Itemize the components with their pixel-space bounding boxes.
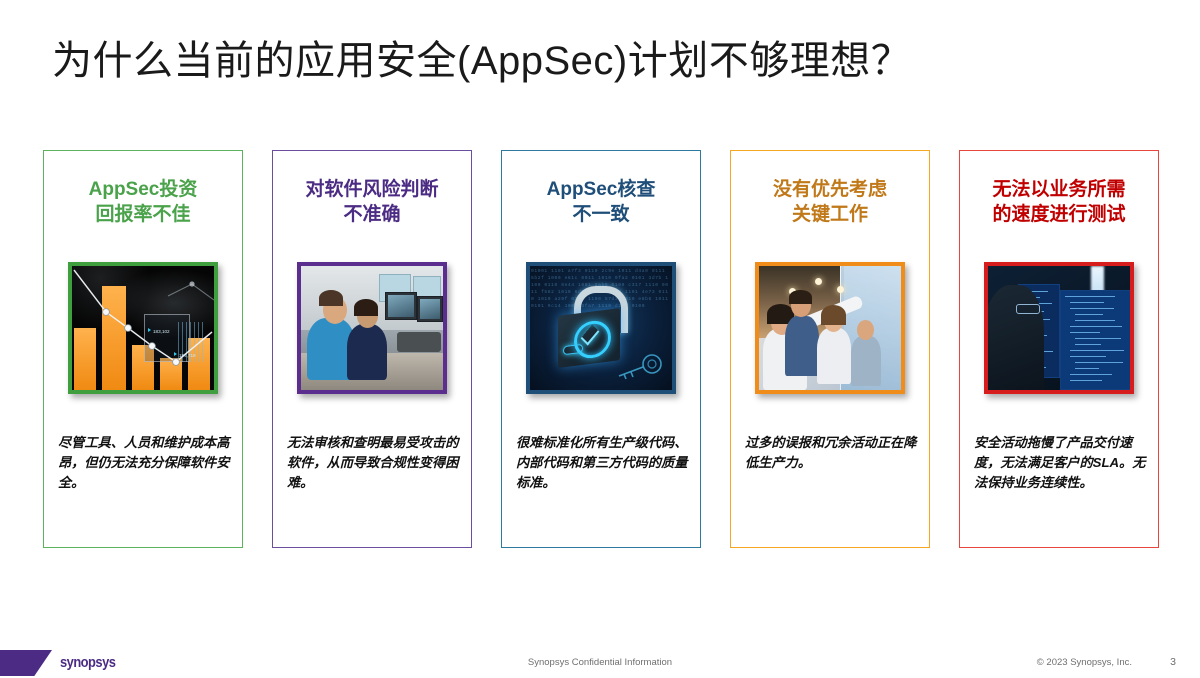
- card-body-text: 安全活动拖慢了产品交付速度，无法满足客户的SLA。无法保持业务连续性。: [974, 433, 1148, 493]
- reason-card-no-prioritization[interactable]: 没有优先考虑 关键工作 过多的误报: [730, 150, 930, 548]
- glasses-icon: [1016, 304, 1040, 314]
- reason-card-inconsistent-audit[interactable]: AppSec核查 不一致 01001 1101 a7f3 0110 2c9e 1…: [501, 150, 701, 548]
- reason-card-testing-speed[interactable]: 无法以业务所需 的速度进行测试: [959, 150, 1159, 548]
- card-body-text: 无法审核和查明最易受攻击的软件，从而导致合规性变得困难。: [287, 433, 461, 493]
- card-heading: AppSec投资 回报率不佳: [50, 177, 236, 227]
- slide-footer: synopsys Synopsys Confidential Informati…: [0, 648, 1200, 678]
- card-image-frame: 01001 1101 a7f3 0110 2c9e 1011 d4a0 0111…: [526, 262, 676, 394]
- card-image-frame: [984, 262, 1134, 394]
- confidentiality-notice: Synopsys Confidential Information: [0, 657, 1200, 668]
- card-heading: 无法以业务所需 的速度进行测试: [966, 177, 1152, 227]
- developer-at-code-monitors-image: [988, 266, 1130, 390]
- reason-card-appsec-roi[interactable]: AppSec投资 回报率不佳: [43, 150, 243, 548]
- card-image-frame: 183,102 154,719: [68, 262, 218, 394]
- declining-bar-line-chart-image: 183,102 154,719: [72, 266, 214, 390]
- monitor-right: [1060, 290, 1134, 390]
- card-heading: AppSec核查 不一致: [508, 177, 694, 227]
- card-image-frame: [297, 262, 447, 394]
- copyright-text: © 2023 Synopsys, Inc.: [1037, 657, 1132, 668]
- glowing-padlock-image: 01001 1101 a7f3 0110 2c9e 1011 d4a0 0111…: [530, 266, 672, 390]
- card-heading: 没有优先考虑 关键工作: [737, 177, 923, 227]
- card-image-frame: [755, 262, 905, 394]
- card-heading: 对软件风险判断 不准确: [279, 177, 465, 227]
- card-body-text: 过多的误报和冗余活动正在降低生产力。: [745, 433, 919, 473]
- developers-at-desk-image: [301, 266, 443, 390]
- developer-silhouette: [984, 285, 1044, 390]
- trend-line: [72, 266, 214, 390]
- chart-data-label-2: 154,719: [174, 352, 196, 358]
- reasons-card-row: AppSec投资 回报率不佳: [43, 150, 1159, 550]
- chart-data-label-1: 183,102: [148, 328, 170, 334]
- page-number: 3: [1170, 656, 1176, 668]
- reason-card-risk-judgement[interactable]: 对软件风险判断 不准确 无: [272, 150, 472, 548]
- page-title: 为什么当前的应用安全(AppSec)计划不够理想？: [52, 36, 1152, 86]
- card-body-text: 很难标准化所有生产级代码、内部代码和第三方代码的质量标准。: [516, 433, 690, 493]
- card-body-text: 尽管工具、人员和维护成本高昂，但仍无法充分保障软件安全。: [58, 433, 232, 493]
- key-icon: [614, 352, 666, 382]
- team-at-glass-wall-image: [759, 266, 901, 390]
